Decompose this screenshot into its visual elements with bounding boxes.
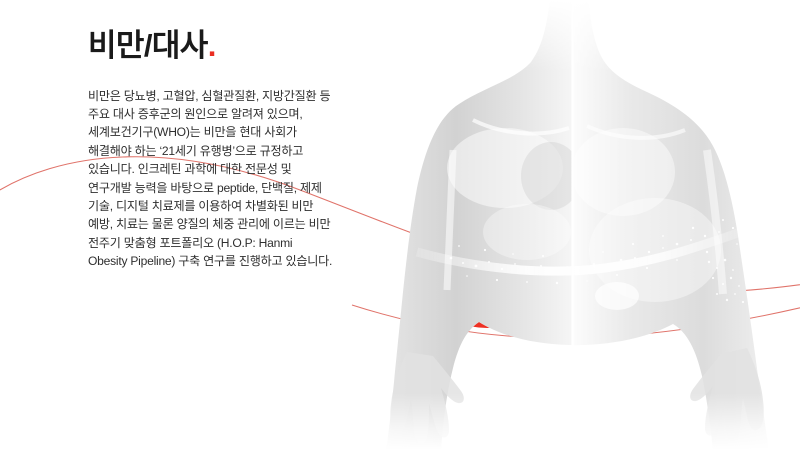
body-paragraph: 비만은 당뇨병, 고혈압, 심혈관질환, 지방간질환 등 주요 대사 증후군의 … — [88, 87, 334, 271]
slide-canvas: 비만/대사. 비만은 당뇨병, 고혈압, 심혈관질환, 지방간질환 등 주요 대… — [0, 0, 800, 450]
human-figure-artwork — [355, 0, 800, 450]
text-column: 비만/대사. 비만은 당뇨병, 고혈압, 심혈관질환, 지방간질환 등 주요 대… — [88, 28, 334, 271]
wrist-particles — [708, 259, 744, 303]
page-title: 비만/대사. — [88, 28, 334, 65]
hands — [390, 348, 764, 443]
top-fade — [355, 0, 800, 150]
title-accent-dot: . — [208, 28, 216, 63]
human-body — [355, 0, 800, 450]
accent-sliver — [653, 268, 685, 322]
curve-secondary — [352, 305, 800, 338]
page-title-text: 비만/대사 — [88, 28, 208, 63]
split-divider-line — [571, 0, 573, 450]
particle-band — [417, 219, 747, 284]
accent-circle — [409, 172, 565, 328]
bottom-fade — [355, 300, 800, 450]
